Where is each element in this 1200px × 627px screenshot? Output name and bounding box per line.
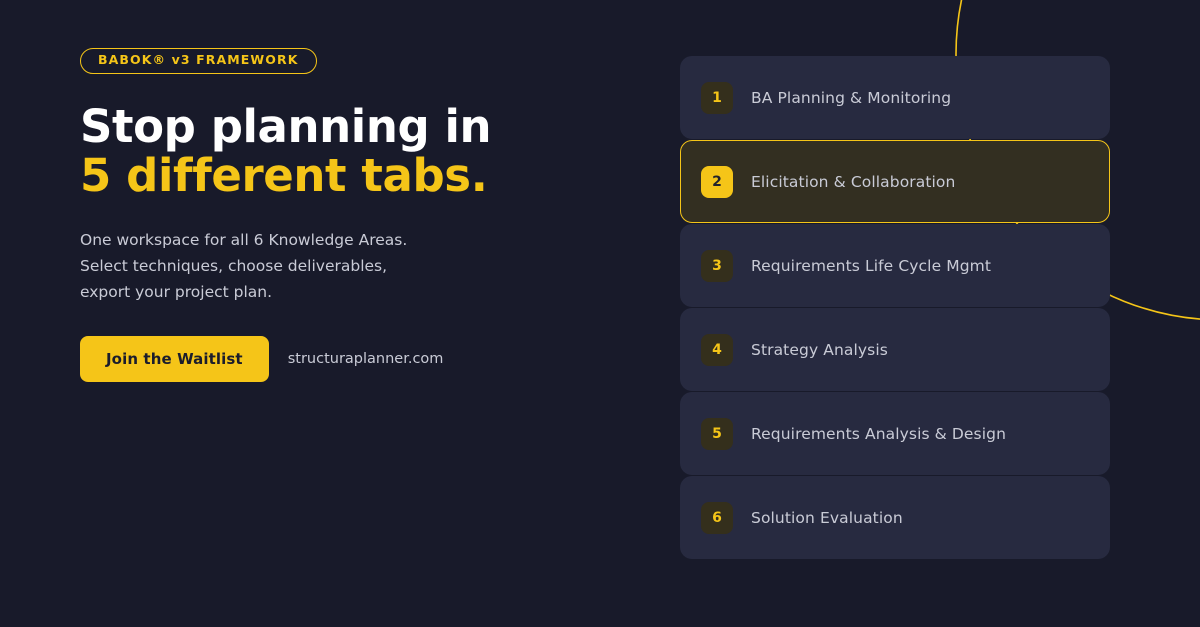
page-title: Stop planning in 5 different tabs. bbox=[80, 102, 600, 200]
promo-banner: BABOK® v3 FRAMEWORK Stop planning in 5 d… bbox=[0, 0, 1200, 627]
knowledge-area-label: Solution Evaluation bbox=[751, 509, 903, 527]
hero-copy-column: BABOK® v3 FRAMEWORK Stop planning in 5 d… bbox=[80, 48, 600, 382]
knowledge-area-list: 1BA Planning & Monitoring2Elicitation & … bbox=[680, 56, 1110, 559]
site-url-link[interactable]: structuraplanner.com bbox=[288, 351, 444, 367]
headline-line-1: Stop planning in bbox=[80, 102, 600, 151]
subtext-line-2: Select techniques, choose deliverables, bbox=[80, 253, 600, 279]
knowledge-area-label: Elicitation & Collaboration bbox=[751, 173, 955, 191]
knowledge-area-number-badge: 2 bbox=[701, 166, 733, 198]
knowledge-area-number-badge: 4 bbox=[701, 334, 733, 366]
knowledge-area-card[interactable]: 2Elicitation & Collaboration bbox=[680, 140, 1110, 223]
hero-subtext: One workspace for all 6 Knowledge Areas.… bbox=[80, 227, 600, 305]
knowledge-area-label: Requirements Life Cycle Mgmt bbox=[751, 257, 991, 275]
framework-eyebrow-badge: BABOK® v3 FRAMEWORK bbox=[80, 48, 317, 74]
knowledge-area-card[interactable]: 1BA Planning & Monitoring bbox=[680, 56, 1110, 139]
knowledge-area-number-badge: 6 bbox=[701, 502, 733, 534]
subtext-line-1: One workspace for all 6 Knowledge Areas. bbox=[80, 227, 600, 253]
cta-row: Join the Waitlist structuraplanner.com bbox=[80, 336, 600, 382]
join-waitlist-button[interactable]: Join the Waitlist bbox=[80, 336, 269, 382]
knowledge-area-card[interactable]: 4Strategy Analysis bbox=[680, 308, 1110, 391]
headline-line-2: 5 different tabs. bbox=[80, 151, 600, 200]
knowledge-area-label: Strategy Analysis bbox=[751, 341, 888, 359]
knowledge-area-card[interactable]: 3Requirements Life Cycle Mgmt bbox=[680, 224, 1110, 307]
knowledge-area-number-badge: 5 bbox=[701, 418, 733, 450]
knowledge-area-number-badge: 1 bbox=[701, 82, 733, 114]
knowledge-area-label: Requirements Analysis & Design bbox=[751, 425, 1006, 443]
knowledge-area-card[interactable]: 6Solution Evaluation bbox=[680, 476, 1110, 559]
subtext-line-3: export your project plan. bbox=[80, 279, 600, 305]
knowledge-area-number-badge: 3 bbox=[701, 250, 733, 282]
knowledge-area-card[interactable]: 5Requirements Analysis & Design bbox=[680, 392, 1110, 475]
knowledge-area-label: BA Planning & Monitoring bbox=[751, 89, 951, 107]
